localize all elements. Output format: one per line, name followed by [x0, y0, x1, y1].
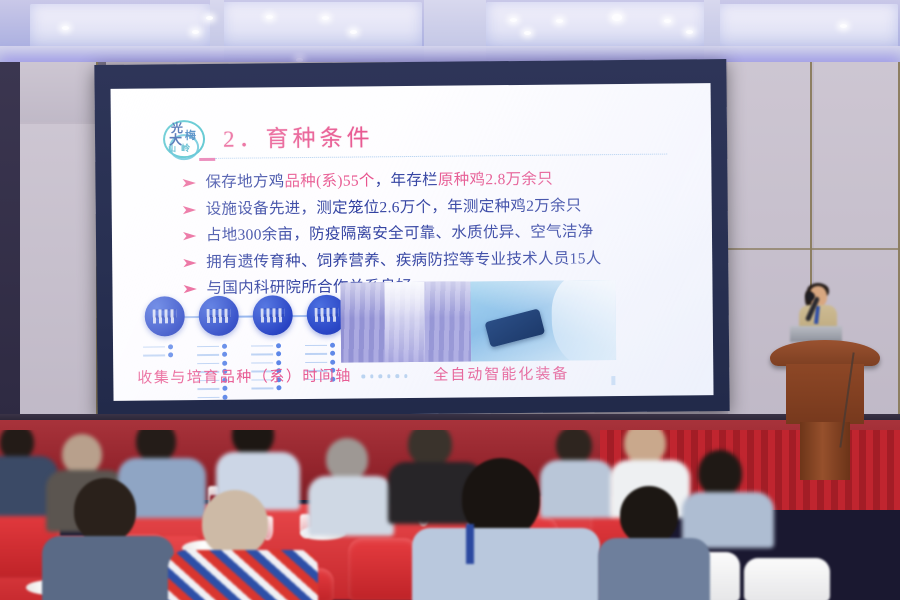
- ceiling-light: [510, 18, 517, 22]
- timeline-item-line: [197, 345, 219, 347]
- person-lanyard: [466, 524, 474, 564]
- timeline-item-line: [251, 353, 273, 355]
- ceiling-light: [612, 14, 622, 21]
- timeline-item-line: [305, 353, 327, 355]
- bullet-arrow-icon: ➤: [180, 170, 210, 189]
- bullet-text: 保存地方鸡品种(系)55个，年存栏原种鸡2.8万余只: [205, 167, 553, 192]
- timeline-item-dot: [168, 344, 173, 349]
- person-torso: [42, 536, 174, 600]
- timeline-node: [199, 296, 239, 336]
- title-divider: [215, 154, 667, 159]
- person-head: [620, 486, 678, 544]
- automated-equipment-photo: [470, 280, 616, 361]
- ceiling-light: [192, 30, 199, 34]
- caption-dot: [378, 374, 382, 378]
- logo-char-5: 岭: [181, 144, 190, 153]
- timeline-item-line: [305, 344, 327, 346]
- ceiling-light: [556, 19, 563, 23]
- caption-dot: [361, 374, 365, 378]
- ceiling-light: [322, 16, 329, 20]
- bullet-arrow-icon: ➤: [181, 249, 211, 268]
- logo-accent-bar: [199, 158, 215, 161]
- timeline-item-line: [197, 362, 219, 364]
- timeline-item: [143, 351, 189, 360]
- timeline-node-label: [153, 309, 177, 323]
- timeline-item-dot: [222, 352, 227, 357]
- poultry-house-photo: [340, 281, 471, 362]
- person-torso: [598, 538, 710, 600]
- slide-page-marker: [611, 376, 615, 385]
- ceiling-light: [664, 19, 671, 23]
- caption-dot: [387, 374, 391, 378]
- bullet-text: 拥有遗传育种、饲养营养、疾病防控等专业技术人员15人: [206, 246, 602, 272]
- ceiling-light: [62, 26, 69, 30]
- projection-screen: 光 大 梅 山 岭 2．育种条件 ➤保存地方鸡品种(系)55个，年存栏原种鸡2.…: [94, 59, 729, 417]
- lectern-top: [770, 340, 880, 366]
- timeline-item-dot: [222, 395, 227, 400]
- audience-area: [0, 430, 900, 600]
- person-head: [326, 438, 368, 480]
- wall-panel: [20, 124, 98, 424]
- timeline-node-label: [261, 308, 285, 322]
- timeline-item: [197, 393, 243, 401]
- person-head: [408, 430, 452, 466]
- bullet-arrow-icon: ➤: [181, 196, 211, 215]
- ceiling-light: [350, 30, 357, 34]
- timeline-caption: 收集与培育品种（系）时间轴: [137, 365, 352, 388]
- ceiling-light: [840, 24, 847, 28]
- timeline-item-dot: [330, 342, 335, 347]
- ceiling-light: [266, 15, 273, 19]
- timeline-item-line: [143, 346, 165, 348]
- timeline-node-label: [315, 308, 339, 322]
- chair: [348, 538, 418, 600]
- lectern-body: [786, 364, 864, 424]
- bullet-arrow-icon: ➤: [181, 223, 211, 242]
- slide-title: 2．育种条件: [223, 118, 374, 153]
- caption-dot: [395, 374, 399, 378]
- caption-dot-separator: [361, 374, 407, 378]
- ceiling-panel: [486, 2, 706, 48]
- timeline-item-line: [251, 387, 273, 389]
- equipment-caption: 全自动智能化装备: [433, 362, 569, 384]
- timeline-item-dot: [168, 353, 173, 358]
- wall-recess: [0, 62, 20, 424]
- timeline-item-line: [143, 354, 165, 356]
- person-torso: [412, 528, 600, 600]
- person-torso: [540, 460, 614, 518]
- chair: [744, 558, 830, 600]
- caption-dot: [370, 374, 374, 378]
- timeline-node-label: [207, 309, 231, 323]
- timeline-item-line: [251, 362, 273, 364]
- timeline-item-line: [251, 345, 273, 347]
- timeline-node: [253, 295, 293, 335]
- timeline-node: [145, 296, 185, 336]
- timeline-item-dot: [276, 352, 281, 357]
- logo-char-4: 山: [168, 145, 176, 153]
- wall-seam: [728, 248, 900, 250]
- timeline-item-dot: [276, 343, 281, 348]
- timeline-item-line: [198, 396, 220, 398]
- person-head: [62, 434, 102, 474]
- person-torso: [168, 550, 318, 600]
- person-torso: [308, 476, 394, 536]
- caption-dot: [404, 374, 408, 378]
- logo-char-3: 梅: [185, 131, 196, 142]
- ceiling-panel: [30, 4, 210, 48]
- timeline-item-column: [143, 342, 189, 359]
- person-head: [556, 430, 592, 464]
- timeline-item-line: [197, 388, 219, 390]
- bullet-arrow-icon: ➤: [181, 276, 211, 295]
- wall-panel: [20, 62, 98, 122]
- timeline-item-line: [305, 361, 327, 363]
- ceiling-light: [206, 16, 213, 20]
- ceiling-panel: [222, 2, 422, 48]
- presentation-slide: 光 大 梅 山 岭 2．育种条件 ➤保存地方鸡品种(系)55个，年存栏原种鸡2.…: [111, 83, 714, 401]
- conference-room-photo: 光 大 梅 山 岭 2．育种条件 ➤保存地方鸡品种(系)55个，年存栏原种鸡2.…: [0, 0, 900, 600]
- person-head: [202, 490, 268, 556]
- timeline-item-line: [197, 354, 219, 356]
- ceiling-panel: [718, 4, 898, 48]
- timeline-item-dot: [222, 344, 227, 349]
- bullet-text: 占地300余亩，防疫隔离安全可靠、水质优异、空气洁净: [206, 219, 594, 245]
- ceiling-light: [524, 31, 531, 35]
- person-head: [74, 478, 136, 542]
- slide-logo: 光 大 梅 山 岭: [159, 118, 211, 162]
- person-head: [698, 450, 742, 496]
- bullet-text: 设施设备先进，测定笼位2.6万个，年测定种鸡2万余只: [206, 193, 582, 219]
- timeline-item-dot: [330, 351, 335, 356]
- person-head: [624, 430, 666, 464]
- ceiling-light: [686, 30, 693, 34]
